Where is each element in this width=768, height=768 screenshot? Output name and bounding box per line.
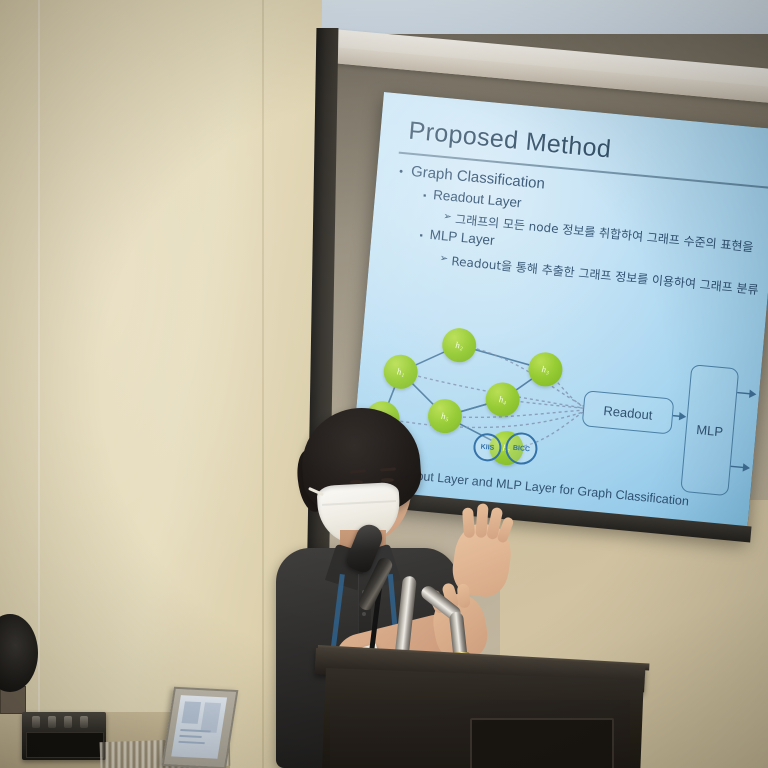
bullet-text-2: Readout Layer: [433, 187, 522, 210]
node-label: h₁: [396, 366, 404, 377]
bullet-text-1: Graph Classification: [410, 163, 545, 193]
presentation-laptop[interactable]: [162, 687, 239, 768]
bullet-marker-4: ▪: [419, 230, 423, 240]
bullet-text-5: Readout을 통해 추출한 그래프 정보를 이용하여 그래프 분류: [451, 252, 759, 298]
conference-photo: Proposed Method • Graph Classification ▪…: [0, 0, 768, 768]
laptop-content-line: [179, 735, 201, 738]
bullet-marker-1: •: [399, 166, 404, 178]
bullet-marker-3: ➢: [443, 211, 452, 223]
podium-front-inset: [470, 718, 614, 768]
laptop-content-block: [182, 701, 202, 724]
laptop-content-block: [200, 702, 221, 732]
shirt-button: [362, 612, 366, 616]
mixer-knob[interactable]: [64, 716, 72, 728]
laptop-display: [171, 695, 227, 759]
finger: [462, 507, 475, 538]
bullet-marker-2: ▪: [423, 190, 427, 200]
mlp-label: MLP: [696, 421, 724, 438]
mixer-front-panel: [26, 732, 104, 758]
node-label: h₂: [455, 340, 463, 351]
bullet-text-3: 그래프의 모든 node 정보를 취합하여 그래프 수준의 표현을: [454, 210, 754, 255]
eye-right: [381, 478, 394, 482]
mixer-knob[interactable]: [48, 716, 56, 728]
node-label: h₃: [541, 364, 549, 375]
laptop-content-line: [178, 741, 204, 744]
readout-label: Readout: [603, 403, 653, 423]
mixer-knob[interactable]: [80, 716, 88, 728]
finger: [457, 584, 471, 609]
slide-title: Proposed Method: [407, 117, 612, 165]
bullet-marker-5: ➢: [439, 253, 448, 265]
laptop-content-line: [180, 729, 210, 733]
mixer-knob[interactable]: [32, 716, 40, 728]
